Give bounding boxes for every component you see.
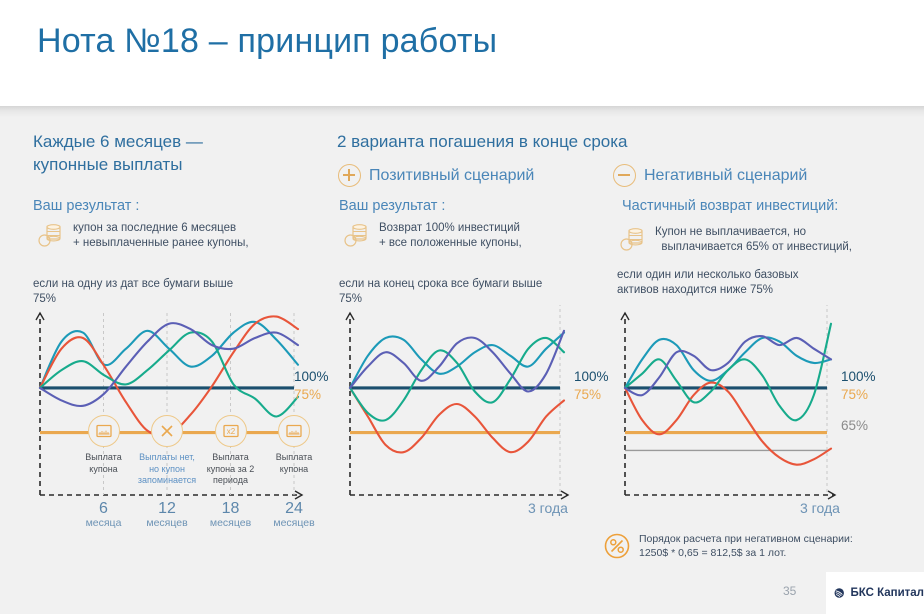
banknote-icon [89, 416, 119, 446]
x-circle-icon [152, 416, 182, 446]
right-result-label: Частичный возврат инвестиций: [622, 198, 838, 214]
coupon-marker-caption: Выплатакупона [256, 452, 332, 475]
middle-column-heading: 2 варианта погашения в конце срока [337, 130, 637, 153]
coupon-marker-circle [151, 415, 183, 447]
coin-stack-icon [344, 222, 370, 248]
chart-left-label-75: 75% [294, 387, 321, 402]
left-bullet-row: купон за последние 6 месяцев + невыплаче… [38, 221, 288, 250]
banknote-x2-icon: x2 [216, 416, 246, 446]
chart-middle-xlabel: 3 года [528, 500, 568, 516]
chart-right [615, 305, 842, 505]
right-bullet-text: Купон не выплачивается, но выплачивается… [655, 225, 852, 254]
left-heading-line2: купонные выплаты [33, 153, 293, 176]
left-bullet-text: купон за последние 6 месяцев + невыплаче… [73, 221, 249, 250]
right-bullet-row: Купон не выплачивается, но выплачивается… [620, 225, 880, 254]
x-tick-unit: месяцев [254, 517, 334, 530]
minus-circle-icon [613, 164, 636, 187]
coupon-marker-circle: x2 [215, 415, 247, 447]
chart-right-label-75: 75% [841, 387, 868, 402]
left-heading-line1: Каждые 6 месяцев — [33, 130, 293, 153]
left-condition-text: если на одну из дат все бумаги выше 75% [33, 277, 303, 306]
slide-root: Нота №18 – принцип работы Каждые 6 месяц… [0, 0, 924, 614]
page-number: 35 [783, 584, 796, 598]
positive-scenario-label: Позитивный сценарий [369, 167, 534, 185]
plus-circle-icon [338, 164, 361, 187]
footnote-text: Порядок расчета при негативном сценарии:… [639, 533, 853, 560]
right-condition-text: если один или несколько базовых активов … [617, 268, 897, 297]
chart-right-xlabel: 3 года [800, 500, 840, 516]
middle-bullet-text: Возврат 100% инвестиций + все положенные… [379, 221, 522, 250]
negative-scenario-label: Негативный сценарий [644, 167, 807, 185]
page-title: Нота №18 – принцип работы [37, 22, 497, 61]
banknote-icon [279, 416, 309, 446]
svg-text:x2: x2 [226, 427, 235, 436]
coupon-marker-circle [278, 415, 310, 447]
left-result-label: Ваш результат : [33, 198, 139, 214]
middle-bullet-row: Возврат 100% инвестиций + все положенные… [344, 221, 594, 250]
coin-stack-icon [620, 226, 646, 252]
middle-result-label: Ваш результат : [339, 198, 445, 214]
x-tick-4: 24 месяцев [254, 500, 334, 530]
chart-middle-label-75: 75% [574, 387, 601, 402]
coupon-marker-circle [88, 415, 120, 447]
header-divider [0, 106, 924, 117]
coin-stack-icon [38, 222, 64, 248]
x-tick-number: 24 [254, 500, 334, 517]
left-column-heading: Каждые 6 месяцев — купонные выплаты [33, 130, 293, 176]
percent-circle-icon [604, 533, 630, 559]
chart-middle-label-100: 100% [574, 369, 609, 384]
chart-left-label-100: 100% [294, 369, 329, 384]
logo: БКС Капитал [826, 572, 924, 614]
logo-text: БКС Капитал [850, 587, 924, 599]
middle-condition-text: если на конец срока все бумаги выше 75% [339, 277, 609, 306]
bks-swoosh-icon [834, 583, 844, 603]
coupon-marker-4[interactable]: Выплатакупона [256, 415, 332, 475]
footnote: Порядок расчета при негативном сценарии:… [604, 533, 853, 560]
positive-scenario-row: Позитивный сценарий [338, 164, 534, 187]
negative-scenario-row: Негативный сценарий [613, 164, 807, 187]
chart-right-label-100: 100% [841, 369, 876, 384]
chart-right-label-65: 65% [841, 418, 868, 433]
chart-middle [340, 305, 575, 505]
